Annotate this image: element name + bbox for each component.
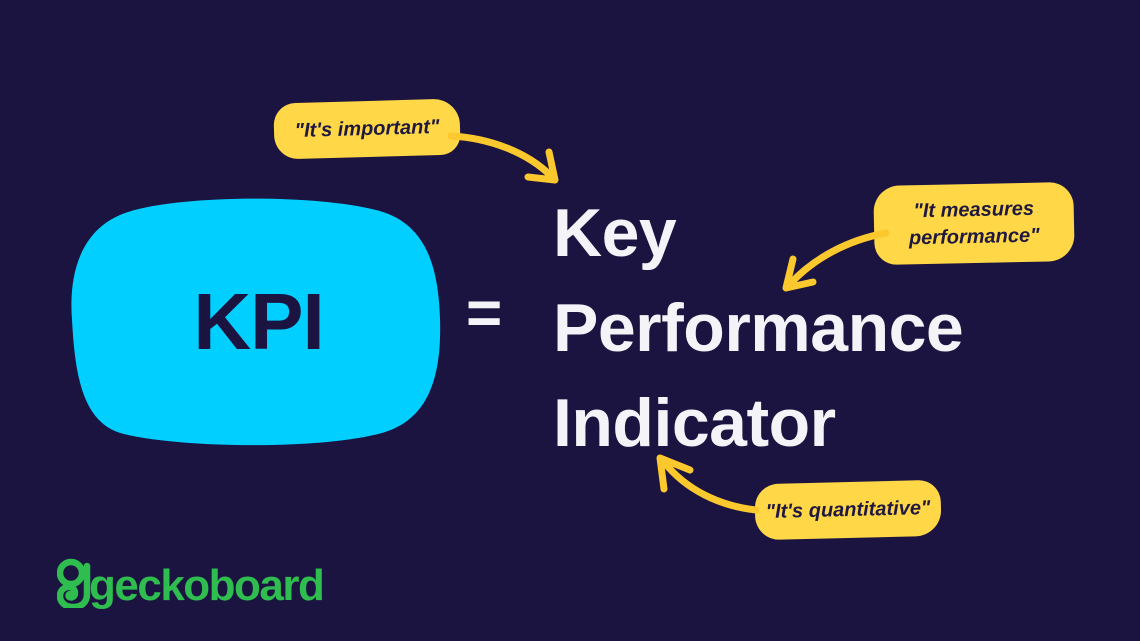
expansion-line-indicator: Indicator (553, 376, 973, 471)
infographic-canvas: KPI = Key Performance Indicator "It's im… (0, 0, 1140, 641)
equals-sign: = (466, 283, 502, 345)
geckoboard-wordmark: geckoboard (89, 564, 323, 608)
callout-text-measures-line2: performance" (909, 222, 1040, 252)
callout-text-important: "It's important" (294, 115, 439, 142)
callout-bubble-quantitative: "It's quantitative" (754, 480, 941, 541)
callout-bubble-important: "It's important" (273, 98, 460, 159)
geckoboard-g-curl-icon (57, 554, 91, 608)
callout-text-measures-line1: "It measures (908, 195, 1039, 225)
callout-bubble-measures: "It measures performance" (873, 182, 1075, 265)
expansion-line-performance: Performance (553, 281, 973, 376)
geckoboard-logo[interactable]: geckoboard (57, 552, 323, 608)
callout-text-quantitative: "It's quantitative" (765, 496, 930, 523)
kpi-acronym-text: KPI (62, 198, 447, 446)
callout-text-measures: "It measures performance" (908, 195, 1040, 252)
kpi-blob: KPI (62, 198, 447, 446)
